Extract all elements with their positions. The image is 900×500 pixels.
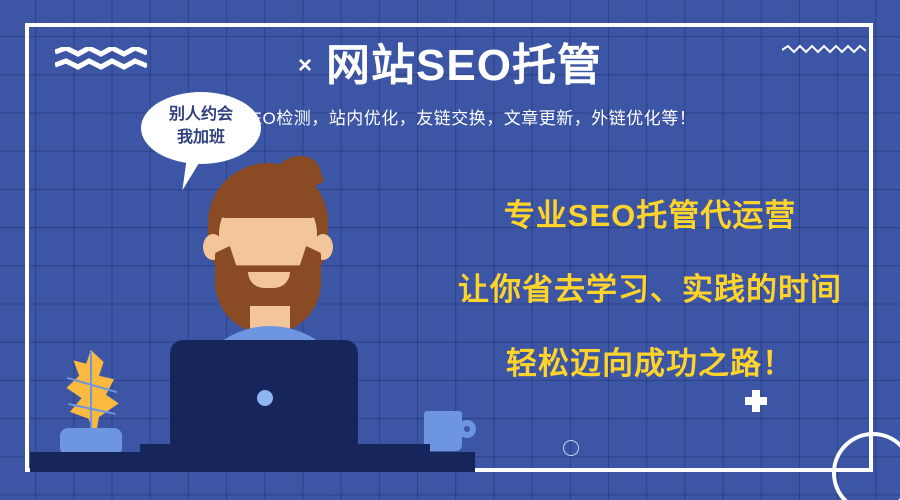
- speech-bubble-line-1: 别人约会: [141, 103, 261, 126]
- speech-bubble: 别人约会 我加班: [141, 92, 261, 164]
- seo-hosting-banner: × 网站SEO托管 含：SEO检测，站内优化，友链交换，文章更新，外链优化等！ …: [0, 0, 900, 500]
- desk: [30, 452, 475, 472]
- speech-bubble-text: 别人约会 我加班: [141, 103, 261, 149]
- plant-stem: [90, 352, 92, 436]
- laptop-logo-icon: [257, 390, 273, 406]
- speech-bubble-line-2: 我加班: [141, 126, 261, 149]
- illustration-person-at-laptop: [0, 0, 900, 500]
- plant-pot: [60, 428, 122, 454]
- coffee-mug-handle: [458, 420, 476, 438]
- plant-leaf-icon: [63, 350, 121, 436]
- hair-fringe: [213, 180, 323, 218]
